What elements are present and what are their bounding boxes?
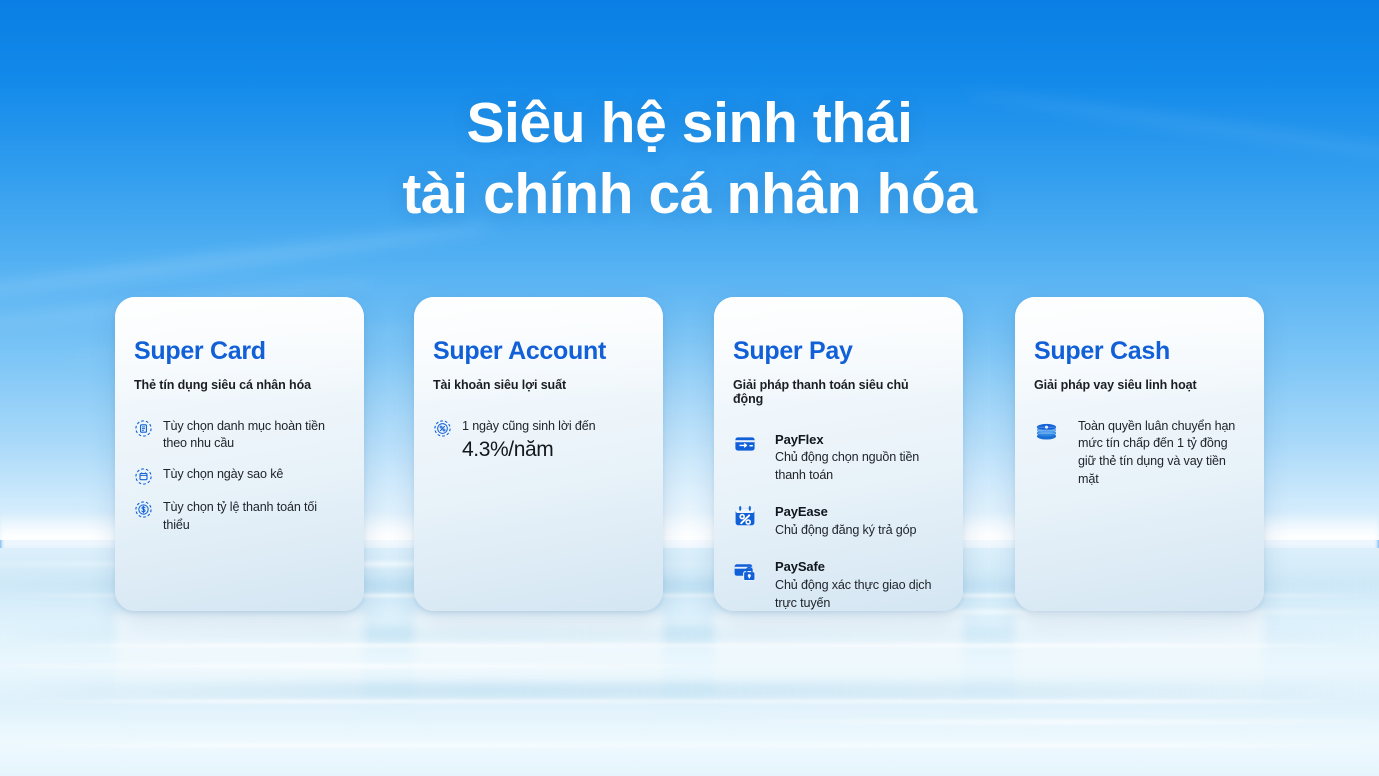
feature-text: Chủ động chọn nguồn tiền thanh toán (775, 449, 941, 485)
dollar-circle-icon (134, 500, 153, 519)
feature-body: PayEase Chủ động đăng ký trả góp (767, 504, 941, 540)
card-subtitle: Thẻ tín dụng siêu cá nhân hóa (134, 378, 342, 392)
feature-body: PayFlex Chủ động chọn nguồn tiền thanh t… (767, 432, 941, 486)
card-transfer-icon (733, 432, 757, 456)
product-card-grid: Super Card Thẻ tín dụng siêu cá nhân hóa… (115, 297, 1265, 611)
feature-text: Tùy chọn ngày sao kê (163, 466, 342, 484)
feature-item: 1 ngày cũng sinh lời đến 4.3%/năm (433, 418, 641, 464)
card-lock-icon (733, 559, 757, 583)
statement-list-icon (134, 419, 153, 438)
feature-text: 1 ngày cũng sinh lời đến (462, 418, 641, 436)
product-card-super-pay[interactable]: Super Pay Giải pháp thanh toán siêu chủ … (714, 297, 963, 611)
feature-list: Toàn quyền luân chuyển hạn mức tín chấp … (1034, 418, 1242, 490)
feature-item: Tùy chọn danh mục hoàn tiền theo nhu cầu (134, 418, 342, 454)
card-title: Super Pay (733, 338, 941, 366)
water-ripple (0, 744, 1379, 747)
card-title: Super Account (433, 338, 641, 366)
feature-item-payease: PayEase Chủ động đăng ký trả góp (733, 504, 941, 540)
feature-item: Tùy chọn ngày sao kê (134, 466, 342, 486)
page-title-line-1: Siêu hệ sinh thái (0, 88, 1379, 159)
calendar-icon (134, 467, 153, 486)
feature-highlight-value: 4.3%/năm (462, 437, 641, 463)
feature-name: PaySafe (775, 559, 941, 576)
card-reflection (115, 612, 364, 732)
feature-list: Tùy chọn danh mục hoàn tiền theo nhu cầu… (134, 418, 342, 536)
feature-item: Toàn quyền luân chuyển hạn mức tín chấp … (1034, 418, 1242, 490)
card-subtitle: Giải pháp vay siêu linh hoạt (1034, 378, 1242, 392)
card-reflection (714, 612, 963, 732)
feature-item: Tùy chọn tỷ lệ thanh toán tối thiểu (134, 499, 342, 535)
feature-list: PayFlex Chủ động chọn nguồn tiền thanh t… (733, 432, 941, 612)
feature-list: 1 ngày cũng sinh lời đến 4.3%/năm (433, 418, 641, 464)
feature-text: Chủ động xác thực giao dịch trực tuyến (775, 577, 941, 611)
product-card-super-cash[interactable]: Super Cash Giải pháp vay siêu linh hoạt … (1015, 297, 1264, 611)
page-title-line-2: tài chính cá nhân hóa (0, 159, 1379, 230)
feature-body: Tùy chọn tỷ lệ thanh toán tối thiểu (163, 499, 342, 535)
feature-item-payflex: PayFlex Chủ động chọn nguồn tiền thanh t… (733, 432, 941, 486)
feature-body: Tùy chọn ngày sao kê (163, 466, 342, 484)
feature-name: PayEase (775, 504, 941, 521)
card-reflection (414, 612, 663, 732)
feature-text: Tùy chọn tỷ lệ thanh toán tối thiểu (163, 499, 342, 535)
calendar-percent-icon (733, 504, 757, 528)
card-title: Super Card (134, 338, 342, 366)
product-card-super-card[interactable]: Super Card Thẻ tín dụng siêu cá nhân hóa… (115, 297, 364, 611)
feature-body: 1 ngày cũng sinh lời đến 4.3%/năm (462, 418, 641, 464)
feature-item-paysafe: PaySafe Chủ động xác thực giao dịch trực… (733, 559, 941, 611)
feature-body: Toàn quyền luân chuyển hạn mức tín chấp … (1069, 418, 1242, 490)
product-card-super-account[interactable]: Super Account Tài khoản siêu lợi suất 1 … (414, 297, 663, 611)
page-title: Siêu hệ sinh thái tài chính cá nhân hóa (0, 88, 1379, 229)
feature-name: PayFlex (775, 432, 941, 449)
feature-body: PaySafe Chủ động xác thực giao dịch trực… (767, 559, 941, 611)
feature-text: Toàn quyền luân chuyển hạn mức tín chấp … (1078, 418, 1242, 490)
card-reflection (1015, 612, 1264, 732)
card-subtitle: Tài khoản siêu lợi suất (433, 378, 641, 392)
feature-text: Tùy chọn danh mục hoàn tiền theo nhu cầu (163, 418, 342, 454)
feature-body: Tùy chọn danh mục hoàn tiền theo nhu cầu (163, 418, 342, 454)
card-subtitle: Giải pháp thanh toán siêu chủ động (733, 378, 941, 406)
percent-circle-icon (433, 419, 452, 438)
card-title: Super Cash (1034, 338, 1242, 366)
feature-text: Chủ động đăng ký trả góp (775, 522, 941, 540)
cash-stack-icon (1034, 419, 1059, 444)
